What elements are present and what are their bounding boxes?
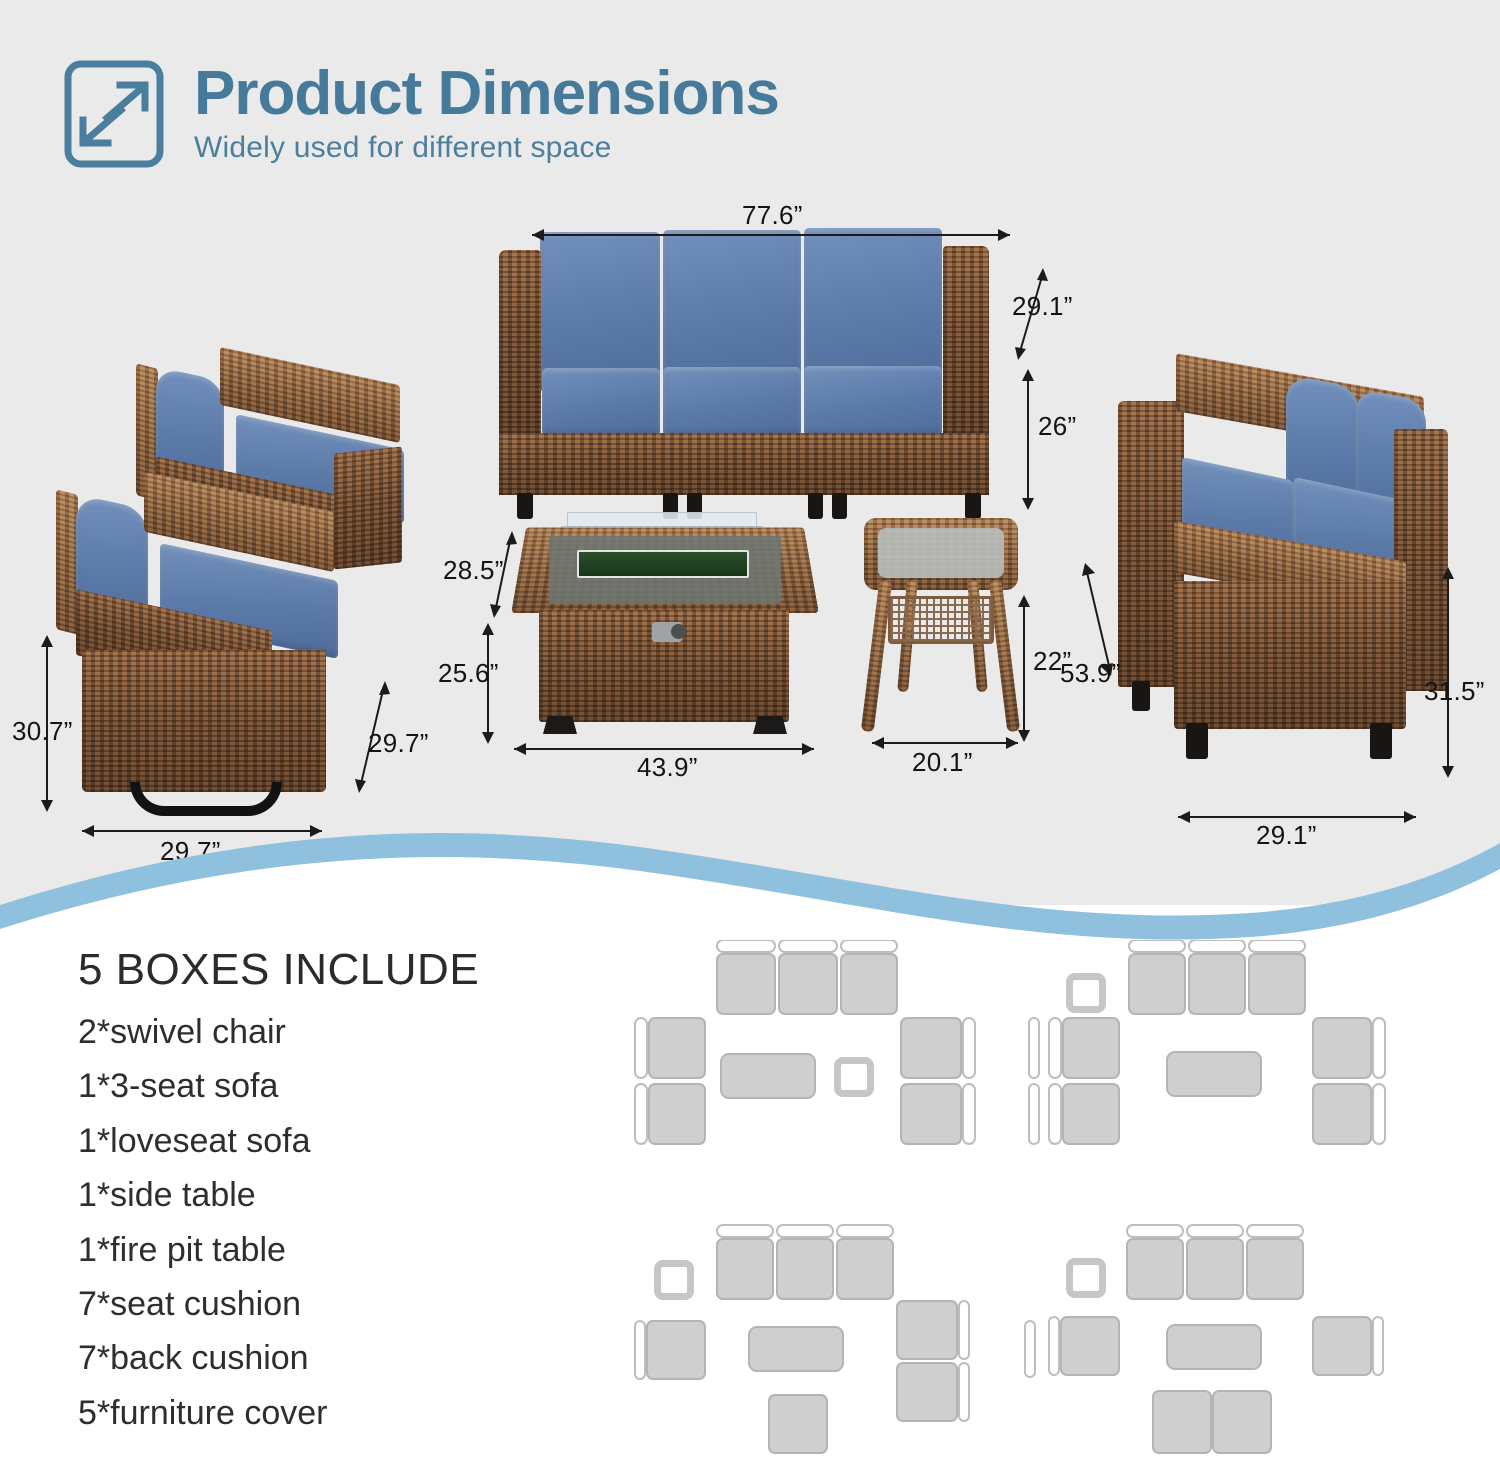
loveseat-sofa-illustration <box>1118 365 1448 795</box>
list-item: 2*swivel chair <box>78 1005 327 1059</box>
firepit-width-dimension-line <box>514 748 814 750</box>
product-dimensions-section: Product Dimensions Widely used for diffe… <box>0 0 1500 905</box>
boxes-include-section: 5 BOXES INCLUDE 2*swivel chair 1*3-seat … <box>0 905 1500 1478</box>
chair-width-dimension-line <box>82 830 322 832</box>
header: Product Dimensions Widely used for diffe… <box>62 58 779 170</box>
expand-arrows-icon <box>62 58 166 170</box>
loveseat-depth-label: 29.1” <box>1256 820 1317 851</box>
layout-option-3 <box>620 1210 1040 1475</box>
boxes-heading: 5 BOXES INCLUDE <box>78 945 479 995</box>
chair-depth-label: 29.7” <box>368 728 429 759</box>
list-item: 7*back cushion <box>78 1331 327 1385</box>
layout-option-2 <box>1040 925 1460 1190</box>
page-title: Product Dimensions <box>194 62 779 125</box>
loveseat-height-dimension-line <box>1447 570 1449 770</box>
firepit-width-label: 43.9” <box>637 752 698 783</box>
swivel-chair-front-illustration <box>48 482 348 832</box>
sofa-width-label: 77.6” <box>742 200 803 231</box>
list-item: 1*fire pit table <box>78 1223 327 1277</box>
sidetable-height-dimension-line <box>1023 598 1025 734</box>
list-item: 1*loveseat sofa <box>78 1114 327 1168</box>
sofa-height-dimension-line <box>1027 372 1029 502</box>
sofa-depth-label: 29.1” <box>1012 291 1073 322</box>
list-item: 1*side table <box>78 1168 327 1222</box>
sofa-height-label: 26” <box>1038 411 1076 442</box>
sidetable-width-dimension-line <box>872 742 1018 744</box>
chair-width-label: 29.7” <box>160 836 221 867</box>
sofa-width-dimension-line <box>532 234 1010 236</box>
page-subtitle: Widely used for different space <box>194 131 779 165</box>
chair-height-label: 30.7” <box>12 716 73 747</box>
side-table-illustration <box>862 518 1032 740</box>
loveseat-height-label: 31.5” <box>1424 676 1485 707</box>
list-item: 5*furniture cover <box>78 1386 327 1440</box>
loveseat-width-label: 53.9” <box>1060 658 1121 689</box>
layout-option-4 <box>1040 1210 1460 1475</box>
loveseat-depth-dimension-line <box>1178 816 1416 818</box>
sidetable-width-label: 20.1” <box>912 747 973 778</box>
layout-option-1 <box>620 925 1040 1190</box>
boxes-list: 2*swivel chair 1*3-seat sofa 1*loveseat … <box>78 1005 327 1440</box>
list-item: 7*seat cushion <box>78 1277 327 1331</box>
fire-pit-table-illustration <box>515 512 815 747</box>
firepit-depth-label: 28.5” <box>443 555 504 586</box>
firepit-height-label: 25.6” <box>438 658 499 689</box>
three-seat-sofa-illustration <box>495 228 1035 513</box>
list-item: 1*3-seat sofa <box>78 1059 327 1113</box>
